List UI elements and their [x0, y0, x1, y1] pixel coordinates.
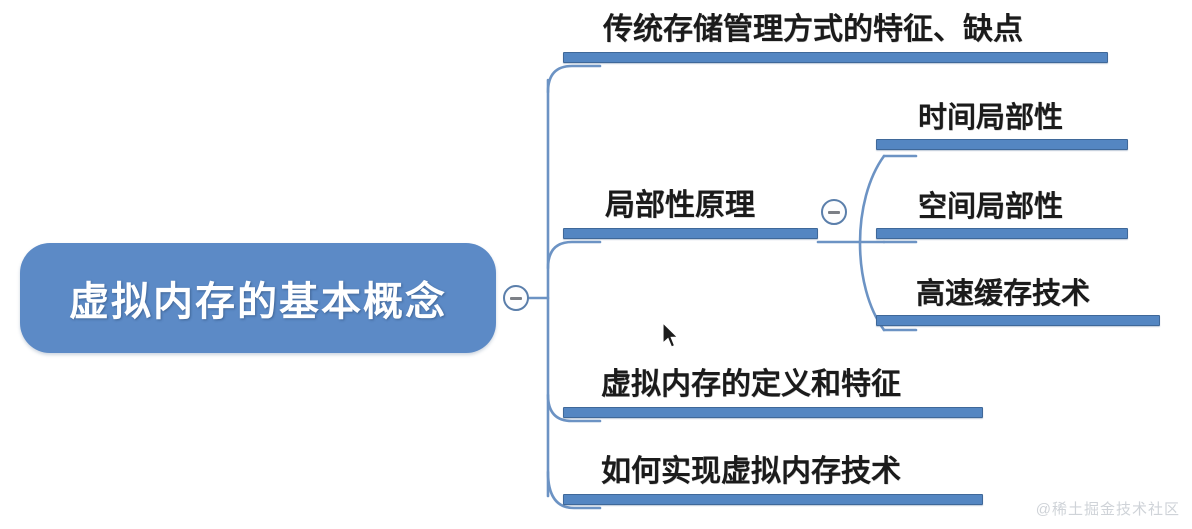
- root-collapse-toggle-minus-circle-icon[interactable]: [503, 285, 529, 311]
- minus-icon: [828, 211, 840, 214]
- mindmap-canvas: 虚拟内存的基本概念 传统存储管理方式的特征、缺点 局部性原理 虚拟内存的定义和特…: [0, 0, 1192, 529]
- watermark-text: @稀土掘金技术社区: [1036, 498, 1180, 519]
- branch-node-label: 如何实现虚拟内存技术: [563, 456, 983, 488]
- sub-node-label: 时间局部性: [876, 103, 1128, 133]
- branch-underline-bar: [563, 407, 983, 418]
- branch-underline-bar: [563, 52, 1108, 63]
- sub-node-spatial-locality[interactable]: 空间局部性: [876, 192, 1128, 239]
- branch-node-label: 虚拟内存的定义和特征: [563, 369, 983, 401]
- root-node[interactable]: 虚拟内存的基本概念: [20, 243, 496, 353]
- branch-underline-bar: [563, 228, 818, 239]
- sub-underline-bar: [876, 228, 1128, 239]
- branch-underline-bar: [563, 494, 983, 505]
- branch-node-virtual-memory-definition[interactable]: 虚拟内存的定义和特征: [563, 369, 983, 418]
- sub-underline-bar: [876, 139, 1128, 150]
- sub-node-label: 高速缓存技术: [876, 279, 1160, 309]
- sub-underline-bar: [876, 315, 1160, 326]
- root-node-label: 虚拟内存的基本概念: [69, 269, 447, 327]
- branch-node-label: 传统存储管理方式的特征、缺点: [563, 14, 1108, 46]
- mouse-pointer-icon: [661, 322, 681, 350]
- branch-node-label: 局部性原理: [563, 190, 818, 222]
- branch-node-locality-principle[interactable]: 局部性原理: [563, 190, 818, 239]
- sub-node-cache-technology[interactable]: 高速缓存技术: [876, 279, 1160, 326]
- locality-collapse-toggle-minus-circle-icon[interactable]: [821, 199, 847, 225]
- sub-node-label: 空间局部性: [876, 192, 1128, 222]
- branch-node-how-to-implement[interactable]: 如何实现虚拟内存技术: [563, 456, 983, 505]
- branch-node-traditional-storage[interactable]: 传统存储管理方式的特征、缺点: [563, 14, 1108, 63]
- minus-icon: [510, 297, 522, 300]
- sub-node-temporal-locality[interactable]: 时间局部性: [876, 103, 1128, 150]
